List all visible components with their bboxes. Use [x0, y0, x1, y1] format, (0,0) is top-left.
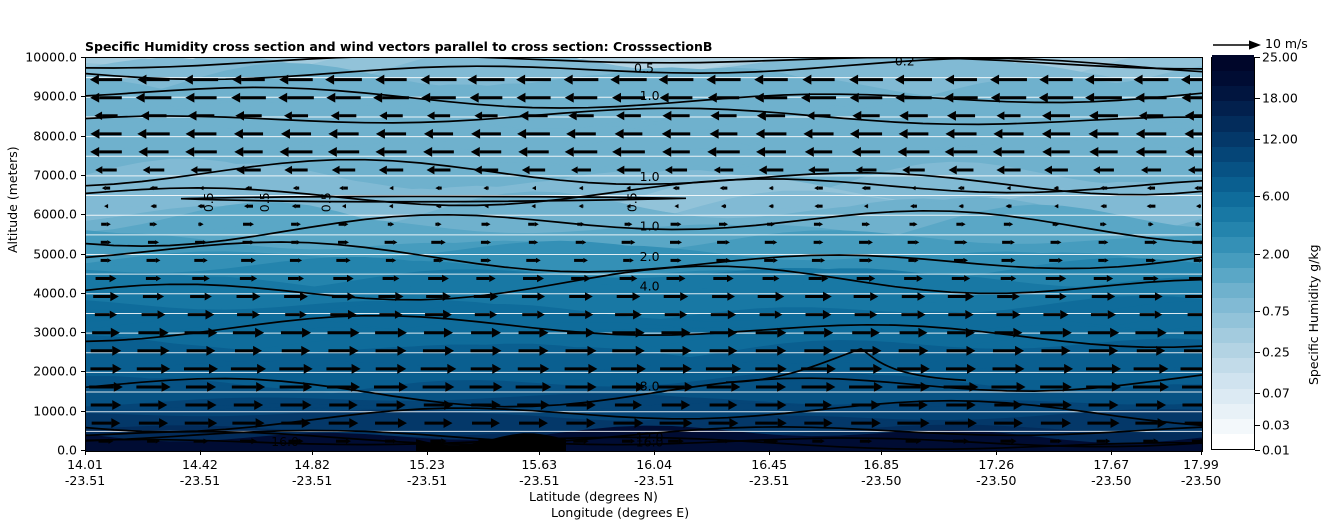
x-tick-longitude: -23.50 [1091, 473, 1131, 489]
colorbar-segment [1212, 101, 1254, 117]
x-tick-latitude: 14.82 [292, 457, 332, 473]
colorbar-tick-mark [1255, 98, 1260, 99]
x-tick-longitude: -23.51 [180, 473, 220, 489]
x-tick-label: 17.26-23.50 [976, 457, 1016, 488]
y-tick-mark [81, 57, 86, 58]
colorbar-segment [1212, 86, 1254, 102]
y-tick-label: 7000.0 [33, 167, 77, 182]
x-tick-label: 14.42-23.51 [180, 457, 220, 488]
colorbar-segment [1212, 433, 1254, 449]
x-tick-latitude: 15.63 [519, 457, 559, 473]
x-tick-mark [1201, 450, 1202, 455]
x-tick-label: 16.85-23.50 [861, 457, 901, 488]
colorbar-tick-mark [1255, 311, 1260, 312]
cross-section-plot: 0.20.51.01.00.50.50.50.51.02.04.08.012.0… [85, 57, 1203, 452]
colorbar-segment [1212, 282, 1254, 298]
x-tick-mark [539, 450, 540, 455]
colorbar-segment [1212, 343, 1254, 359]
x-axis-label-longitude: Longitude (degrees E) [551, 505, 689, 520]
x-tick-label: 16.04-23.51 [634, 457, 674, 488]
y-tick-mark [81, 214, 86, 215]
y-tick-label: 3000.0 [33, 325, 77, 340]
colorbar-tick-label: 0.25 [1262, 344, 1290, 359]
colorbar-tick-mark [1255, 139, 1260, 140]
y-tick-mark [81, 332, 86, 333]
contour-label: 8.0 [640, 378, 660, 393]
colorbar-tick-mark [1255, 450, 1260, 451]
colorbar-tick-mark [1255, 393, 1260, 394]
x-tick-latitude: 16.85 [861, 457, 901, 473]
contour-label: 0.5 [319, 192, 334, 212]
y-tick-label: 9000.0 [33, 89, 77, 104]
x-tick-label: 14.01-23.51 [65, 457, 105, 488]
y-axis-label: Altitude (meters) [5, 146, 20, 253]
x-tick-latitude: 15.23 [407, 457, 447, 473]
x-tick-mark [85, 450, 86, 455]
x-tick-mark [769, 450, 770, 455]
colorbar-segment [1212, 161, 1254, 177]
colorbar-segment [1212, 312, 1254, 328]
colorbar-segment [1212, 55, 1254, 71]
quiver-key-label: 10 m/s [1265, 36, 1308, 51]
x-tick-mark [881, 450, 882, 455]
y-tick-label: 10000.0 [25, 50, 77, 65]
colorbar-tick-label: 12.00 [1262, 131, 1298, 146]
contour-label: 4.0 [640, 279, 660, 294]
x-tick-latitude: 17.67 [1091, 457, 1131, 473]
contour-label: 1.0 [640, 169, 660, 184]
x-tick-latitude: 14.42 [180, 457, 220, 473]
x-tick-longitude: -23.51 [749, 473, 789, 489]
colorbar-segment [1212, 418, 1254, 434]
colorbar-segment [1212, 176, 1254, 192]
colorbar-segment [1212, 297, 1254, 313]
x-tick-label: 17.99-23.50 [1181, 457, 1221, 488]
contour-label: 0.5 [624, 192, 639, 212]
colorbar-segment [1212, 146, 1254, 162]
colorbar-tick-mark [1255, 196, 1260, 197]
contour-label: 2.0 [640, 249, 660, 264]
y-tick-mark [81, 175, 86, 176]
y-tick-label: 4000.0 [33, 285, 77, 300]
contour-label: 16.0 [636, 435, 664, 450]
contour-label: 0.5 [634, 61, 654, 76]
colorbar-segment [1212, 116, 1254, 132]
contour-label: 0.5 [257, 192, 272, 212]
y-tick-label: 1000.0 [33, 403, 77, 418]
colorbar-label: Specific Humidity g/kg [1306, 244, 1321, 385]
y-tick-mark [81, 96, 86, 97]
y-tick-mark [81, 293, 86, 294]
x-tick-latitude: 16.04 [634, 457, 674, 473]
colorbar-segment [1212, 237, 1254, 253]
contour-label: 1.0 [640, 88, 660, 103]
x-tick-latitude: 17.99 [1181, 457, 1221, 473]
colorbar-tick-label: 0.01 [1262, 443, 1290, 458]
title-line-1: Specific Humidity cross section and wind… [85, 39, 712, 55]
colorbar-tick-mark [1255, 254, 1260, 255]
colorbar-segment [1212, 358, 1254, 374]
x-tick-longitude: -23.50 [861, 473, 901, 489]
colorbar-tick-mark [1255, 425, 1260, 426]
x-tick-label: 16.45-23.51 [749, 457, 789, 488]
colorbar-segment [1212, 222, 1254, 238]
colorbar-segment [1212, 131, 1254, 147]
y-tick-mark [81, 371, 86, 372]
colorbar-segment [1212, 373, 1254, 389]
y-tick-mark [81, 411, 86, 412]
colorbar-segment [1212, 252, 1254, 268]
contour-label: 1.0 [640, 218, 660, 233]
x-tick-mark [996, 450, 997, 455]
x-tick-longitude: -23.51 [519, 473, 559, 489]
x-tick-label: 17.67-23.50 [1091, 457, 1131, 488]
contour-label: 16.0 [271, 434, 299, 449]
figure-canvas: Specific Humidity cross section and wind… [0, 0, 1326, 526]
colorbar-tick-mark [1255, 352, 1260, 353]
y-tick-label: 6000.0 [33, 207, 77, 222]
x-tick-label: 14.82-23.51 [292, 457, 332, 488]
colorbar-segment [1212, 328, 1254, 344]
y-tick-mark [81, 136, 86, 137]
y-tick-label: 8000.0 [33, 128, 77, 143]
colorbar-tick-mark [1255, 57, 1260, 58]
x-tick-longitude: -23.51 [65, 473, 105, 489]
right-arrow-icon [1211, 36, 1263, 54]
x-tick-label: 15.23-23.51 [407, 457, 447, 488]
x-tick-mark [200, 450, 201, 455]
x-tick-latitude: 17.26 [976, 457, 1016, 473]
colorbar-segment [1212, 267, 1254, 283]
y-tick-mark [81, 254, 86, 255]
colorbar-segment [1212, 388, 1254, 404]
colorbar [1211, 57, 1255, 450]
colorbar-segment [1212, 71, 1254, 87]
y-tick-label: 2000.0 [33, 364, 77, 379]
colorbar-segment [1212, 403, 1254, 419]
colorbar-tick-label: 0.75 [1262, 303, 1290, 318]
colorbar-tick-label: 0.07 [1262, 385, 1290, 400]
x-tick-longitude: -23.50 [976, 473, 1016, 489]
contour-label: 0.5 [201, 192, 216, 212]
colorbar-segment [1212, 191, 1254, 207]
colorbar-segment [1212, 207, 1254, 223]
plot-inner: 0.20.51.01.00.50.50.50.51.02.04.08.012.0… [86, 58, 1202, 451]
y-tick-label: 0.0 [57, 443, 77, 458]
x-tick-mark [427, 450, 428, 455]
x-tick-latitude: 14.01 [65, 457, 105, 473]
quiver-key: 10 m/s [1211, 36, 1326, 56]
plot-graphics: 0.20.51.01.00.50.50.50.51.02.04.08.012.0… [86, 58, 1202, 451]
x-tick-latitude: 16.45 [749, 457, 789, 473]
y-tick-label: 5000.0 [33, 246, 77, 261]
x-tick-longitude: -23.51 [407, 473, 447, 489]
x-tick-mark [654, 450, 655, 455]
colorbar-tick-label: 6.00 [1262, 189, 1290, 204]
x-tick-longitude: -23.51 [634, 473, 674, 489]
colorbar-tick-label: 18.00 [1262, 90, 1298, 105]
contour-label: 0.2 [895, 58, 915, 68]
x-tick-label: 15.63-23.51 [519, 457, 559, 488]
x-tick-mark [1111, 450, 1112, 455]
colorbar-tick-label: 2.00 [1262, 246, 1290, 261]
x-tick-longitude: -23.50 [1181, 473, 1221, 489]
x-axis-label-latitude: Latitude (degrees N) [529, 489, 658, 504]
x-tick-mark [312, 450, 313, 455]
x-tick-longitude: -23.51 [292, 473, 332, 489]
colorbar-tick-label: 0.03 [1262, 418, 1290, 433]
